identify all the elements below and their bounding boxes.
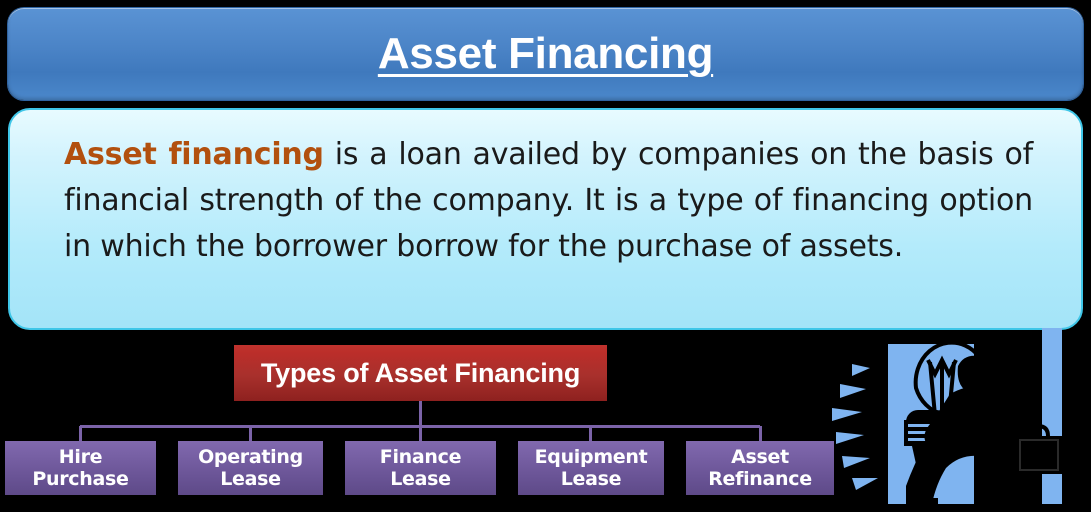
chart-leaf-label: Finance Lease [345,446,496,490]
illustration-backdrop-panel-right [1042,328,1062,504]
chart-leaf-label: Hire Purchase [5,446,156,490]
chart-leaf-equipment-lease: Equipment Lease [518,441,664,495]
description-paragraph: Asset financing is a loan availed by com… [64,132,1033,270]
idea-rays-icon [832,364,878,490]
chart-leaf-operating-lease: Operating Lease [178,441,323,495]
chart-leaf-label: Asset Refinance [686,446,834,490]
chart-leaf-hire-purchase: Hire Purchase [5,441,156,495]
businessman-lightbulb-icon [830,318,1091,512]
chart-leaf-label: Equipment Lease [518,446,664,490]
description-emphasis: Asset financing [64,137,324,172]
chart-leaf-finance-lease: Finance Lease [345,441,496,495]
title-banner: Asset Financing [8,8,1083,100]
description-panel: Asset financing is a loan availed by com… [8,108,1083,330]
chart-leaf-asset-refinance: Asset Refinance [686,441,834,495]
page-title: Asset Financing [378,29,713,79]
chart-leaf-label: Operating Lease [178,446,323,490]
